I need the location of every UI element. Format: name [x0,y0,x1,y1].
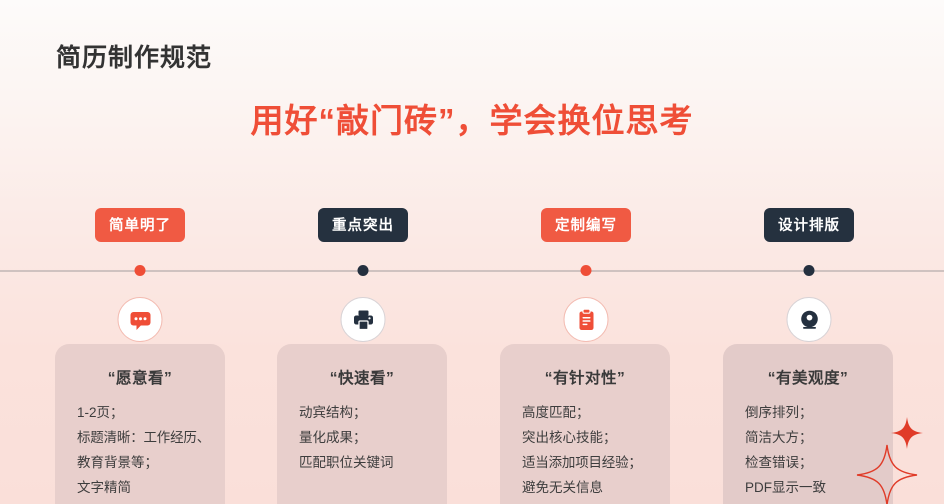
clipboard-icon [564,297,609,342]
card-line: 避免无关信息 [522,475,670,500]
timeline-dot-4 [804,265,815,276]
step-card-2: “快速看” 动宾结构； 量化成果； 匹配职位关键词 [277,344,447,504]
webcam-icon [787,297,832,342]
step-badge-4[interactable]: 设计排版 [764,208,854,242]
timeline-dot-2 [358,265,369,276]
step-card-lines-1: 1-2页； 标题清晰：工作经历、 教育背景等； 文字精简 [55,400,225,500]
printer-icon [341,297,386,342]
step-badge-1[interactable]: 简单明了 [95,208,185,242]
card-line: 1-2页； [77,400,225,425]
timeline-dot-1 [135,265,146,276]
card-line: 教育背景等； [77,450,225,475]
headline: 用好“敲门砖”，学会换位思考 [0,94,944,142]
step-badge-3[interactable]: 定制编写 [541,208,631,242]
card-line: 高度匹配； [522,400,670,425]
chat-bubble-icon [118,297,163,342]
card-line: 量化成果； [299,425,447,450]
timeline-dot-3 [581,265,592,276]
step-card-3: “有针对性” 高度匹配； 突出核心技能； 适当添加项目经验； 避免无关信息 [500,344,670,504]
card-line: 文字精简 [77,475,225,500]
card-line: 突出核心技能； [522,425,670,450]
card-line: 适当添加项目经验； [522,450,670,475]
sparkle-outline-icon [855,443,919,504]
step-card-title-1: “愿意看” [55,366,225,388]
card-line: 标题清晰：工作经历、 [77,425,225,450]
step-card-title-4: “有美观度” [723,366,893,388]
card-line: 倒序排列； [745,400,893,425]
step-card-lines-2: 动宾结构； 量化成果； 匹配职位关键词 [277,400,447,475]
page-title: 简历制作规范 [56,38,212,74]
step-badge-2[interactable]: 重点突出 [318,208,408,242]
step-card-1: “愿意看” 1-2页； 标题清晰：工作经历、 教育背景等； 文字精简 [55,344,225,504]
card-line: 匹配职位关键词 [299,450,447,475]
card-line: 动宾结构； [299,400,447,425]
step-card-title-3: “有针对性” [500,366,670,388]
step-card-title-2: “快速看” [277,366,447,388]
step-card-lines-3: 高度匹配； 突出核心技能； 适当添加项目经验； 避免无关信息 [500,400,670,500]
